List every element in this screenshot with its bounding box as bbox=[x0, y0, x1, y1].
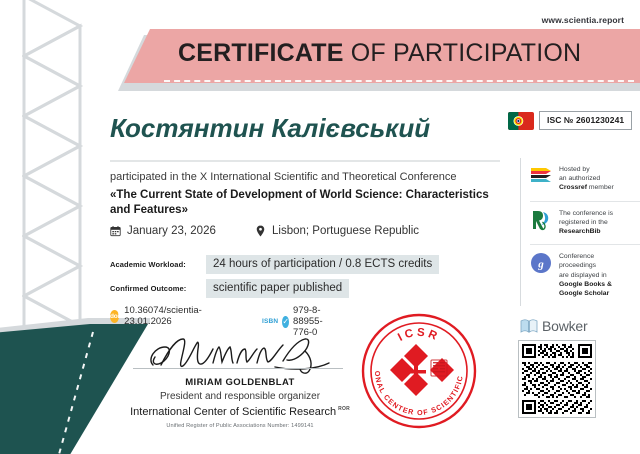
header-banner: CERTIFICATE OF PARTICIPATION bbox=[118, 29, 640, 89]
researchbib-line2: registered in the bbox=[559, 219, 608, 226]
doi-value: 10.36074/scientia-23.01.2026 bbox=[124, 305, 205, 327]
scholar-line1: Conference bbox=[559, 253, 594, 260]
doi-badge[interactable]: doi 10.36074/scientia-23.01.2026 bbox=[110, 305, 206, 327]
qr-code[interactable] bbox=[518, 340, 596, 418]
certificate-page: www.scientia.report CERTIFICATE OF PARTI… bbox=[0, 0, 640, 454]
isbn-value: 979-8-88955-776-0 bbox=[293, 305, 328, 338]
google-scholar-icon: g bbox=[530, 252, 552, 274]
website-url: www.scientia.report bbox=[542, 15, 624, 25]
participation-text: participated in the X International Scie… bbox=[110, 171, 457, 183]
bowker-label: Bowker bbox=[542, 318, 587, 334]
calendar-icon bbox=[110, 225, 121, 237]
event-location-text: Lisbon; Portuguese Republic bbox=[272, 225, 419, 237]
signature-image bbox=[125, 335, 355, 375]
icsr-seal: ICSR INTERNATIONAL CENTER OF SCIENTIFIC … bbox=[360, 312, 478, 430]
badge-researchbib[interactable]: The conference is registered in the Rese… bbox=[530, 201, 640, 245]
isbn-badge: ISBN ✓ 979-8-88955-776-0 bbox=[262, 305, 328, 338]
badge-google-scholar-text: Conference proceedings are displayed in … bbox=[559, 252, 612, 298]
page-title: CERTIFICATE OF PARTICIPATION bbox=[178, 39, 581, 68]
researchbib-icon bbox=[530, 209, 552, 231]
confirmed-outcome-label: Confirmed Outcome: bbox=[110, 284, 206, 293]
ror-icon: ROR bbox=[338, 406, 350, 412]
confirmed-outcome-row: Confirmed Outcome: scientific paper publ… bbox=[110, 279, 349, 298]
crossref-line1: Hosted by bbox=[559, 166, 590, 173]
qr-code-image bbox=[522, 344, 592, 414]
svg-text:g: g bbox=[537, 259, 544, 271]
isc-number: ISC № 2601230241 bbox=[539, 111, 632, 130]
crossref-line3-rest: member bbox=[587, 184, 614, 191]
accreditation-badges: Hosted by an authorized Crossref member … bbox=[520, 158, 640, 306]
academic-workload-label: Academic Workload: bbox=[110, 260, 206, 269]
handwritten-signature bbox=[125, 335, 355, 375]
researchbib-line1: The conference is bbox=[559, 210, 613, 217]
event-location: Lisbon; Portuguese Republic bbox=[255, 225, 419, 237]
conference-title: «The Current State of Development of Wor… bbox=[110, 188, 490, 218]
academic-workload-row: Academic Workload: 24 hours of participa… bbox=[110, 255, 439, 274]
event-date-text: January 23, 2026 bbox=[127, 225, 216, 237]
crossref-line3-bold: Crossref bbox=[559, 184, 587, 191]
scholar-line3: are displayed in bbox=[559, 272, 607, 279]
event-date: January 23, 2026 bbox=[110, 225, 216, 237]
name-divider bbox=[110, 160, 500, 162]
zigzag-decoration bbox=[22, 0, 84, 364]
badge-google-scholar[interactable]: g Conference proceedings are displayed i… bbox=[530, 244, 640, 306]
scholar-line4-bold: Google Scholar bbox=[559, 290, 609, 297]
signature-block: MIRIAM GOLDENBLAT President and responsi… bbox=[125, 335, 355, 429]
location-pin-icon bbox=[255, 225, 266, 237]
register-number: Unified Register of Public Associations … bbox=[125, 423, 355, 429]
scholar-line2: proceedings bbox=[559, 262, 596, 269]
badge-researchbib-text: The conference is registered in the Rese… bbox=[559, 209, 613, 237]
scholar-line3-bold: Google Books & bbox=[559, 281, 612, 288]
signature-rule bbox=[133, 368, 343, 369]
signatory-name: MIRIAM GOLDENBLAT bbox=[125, 377, 355, 388]
recipient-name: Костянтин Калієвський bbox=[110, 113, 430, 144]
event-meta-row: January 23, 2026 Lisbon; Portuguese Repu… bbox=[110, 225, 490, 241]
isc-identifier: ISC № 2601230241 bbox=[508, 111, 632, 130]
crossref-line2: an authorized bbox=[559, 175, 600, 182]
page-title-bold: CERTIFICATE bbox=[178, 39, 344, 67]
doi-icon: doi bbox=[110, 310, 119, 323]
academic-workload-value: 24 hours of participation / 0.8 ECTS cre… bbox=[206, 255, 439, 274]
badge-crossref[interactable]: Hosted by an authorized Crossref member bbox=[530, 158, 640, 201]
signatory-role: President and responsible organizer bbox=[125, 391, 355, 402]
book-icon bbox=[520, 318, 538, 334]
portugal-flag-icon bbox=[508, 112, 534, 130]
crossref-icon bbox=[530, 165, 552, 187]
page-title-rest: OF PARTICIPATION bbox=[344, 39, 582, 67]
seal-center-text: ICSR bbox=[396, 327, 441, 344]
isbn-icon: ISBN bbox=[262, 318, 278, 325]
svg-text:ICSR: ICSR bbox=[396, 327, 441, 344]
researchbib-line3-bold: ResearchBib bbox=[559, 228, 601, 235]
bowker-logo: Bowker bbox=[520, 318, 587, 334]
banner-dashed-line bbox=[164, 80, 634, 82]
badge-crossref-text: Hosted by an authorized Crossref member bbox=[559, 165, 614, 193]
organization-name: International Center of Scientific Resea… bbox=[130, 406, 336, 418]
signatory-organization: International Center of Scientific Resea… bbox=[130, 406, 350, 418]
verified-check-icon: ✓ bbox=[282, 316, 289, 328]
confirmed-outcome-value: scientific paper published bbox=[206, 279, 349, 298]
